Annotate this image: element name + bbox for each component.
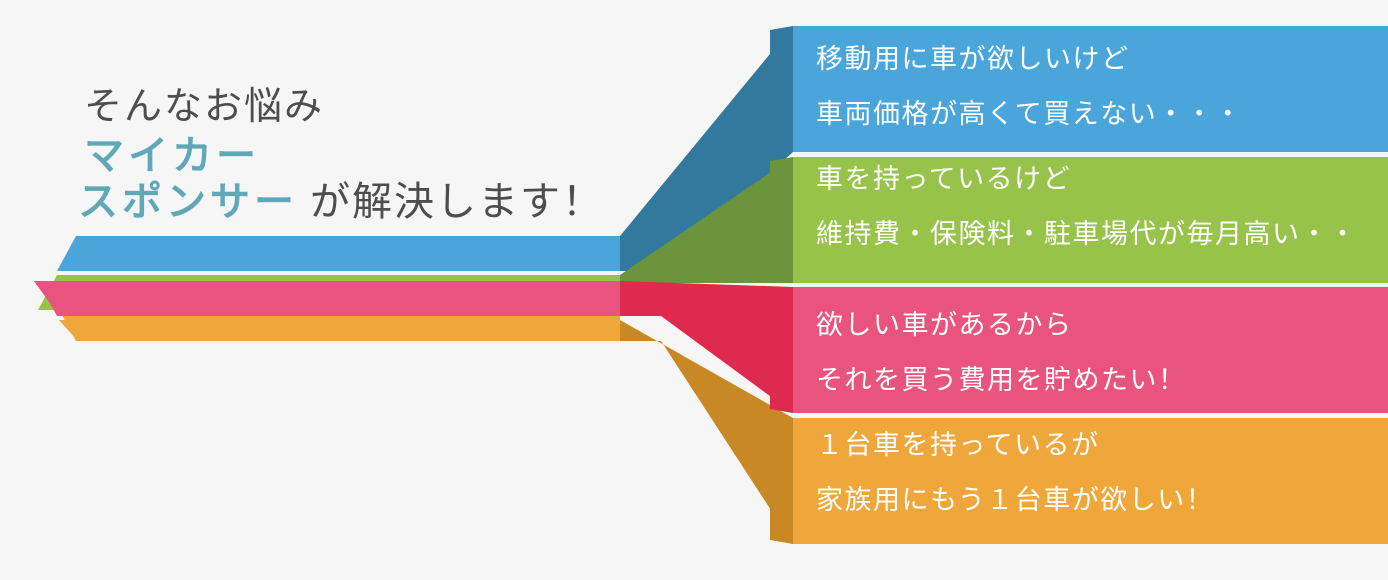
panel-green-text: 車を持っているけど 維持費・保険料・駐車場代が毎月高い・・ [816,166,1358,248]
panel-orange-line-1: １台車を持っているが [816,432,1214,459]
panel-green-line-2: 維持費・保険料・駐車場代が毎月高い・・ [816,221,1358,248]
headline-brand: スポンサー [78,179,298,225]
panel-pink-line-1: 欲しい車があるから [816,312,1187,339]
headline-line-1: そんなお悩み [78,88,638,126]
panel-green-edge [770,157,793,283]
ribbon-pink-tail-2 [34,281,620,316]
panel-orange-line-2: 家族用にもう１台車が欲しい！ [816,487,1214,514]
panel-green-line-1: 車を持っているけど [816,166,1358,193]
headline-block: そんなお悩み マイカー スポンサー が解決します！ [78,88,638,222]
panel-orange-text: １台車を持っているが 家族用にもう１台車が欲しい！ [816,432,1214,514]
panel-blue-line-2: 車両価格が高くて買えない・・・ [816,101,1243,128]
panel-pink-text: 欲しい車があるから それを買う費用を貯めたい！ [816,312,1187,394]
panel-blue-edge [770,26,793,152]
ribbon-orange-tail-3 [59,320,620,341]
infographic-canvas: そんなお悩み マイカー スポンサー が解決します！ 移動用に車が欲しいけど 車両… [0,0,1388,580]
panel-pink-line-2: それを買う費用を貯めたい！ [816,367,1187,394]
ribbon-blue-tail [57,236,620,271]
headline-line-2: マイカー [78,136,638,176]
headline-tail: が解決します！ [298,179,604,224]
headline-line-3: スポンサー が解決します！ [78,182,638,222]
panel-orange-edge [770,418,793,544]
panel-pink-edge [770,287,793,413]
panel-blue-text: 移動用に車が欲しいけど 車両価格が高くて買えない・・・ [816,46,1243,128]
panel-blue-line-1: 移動用に車が欲しいけど [816,46,1243,73]
